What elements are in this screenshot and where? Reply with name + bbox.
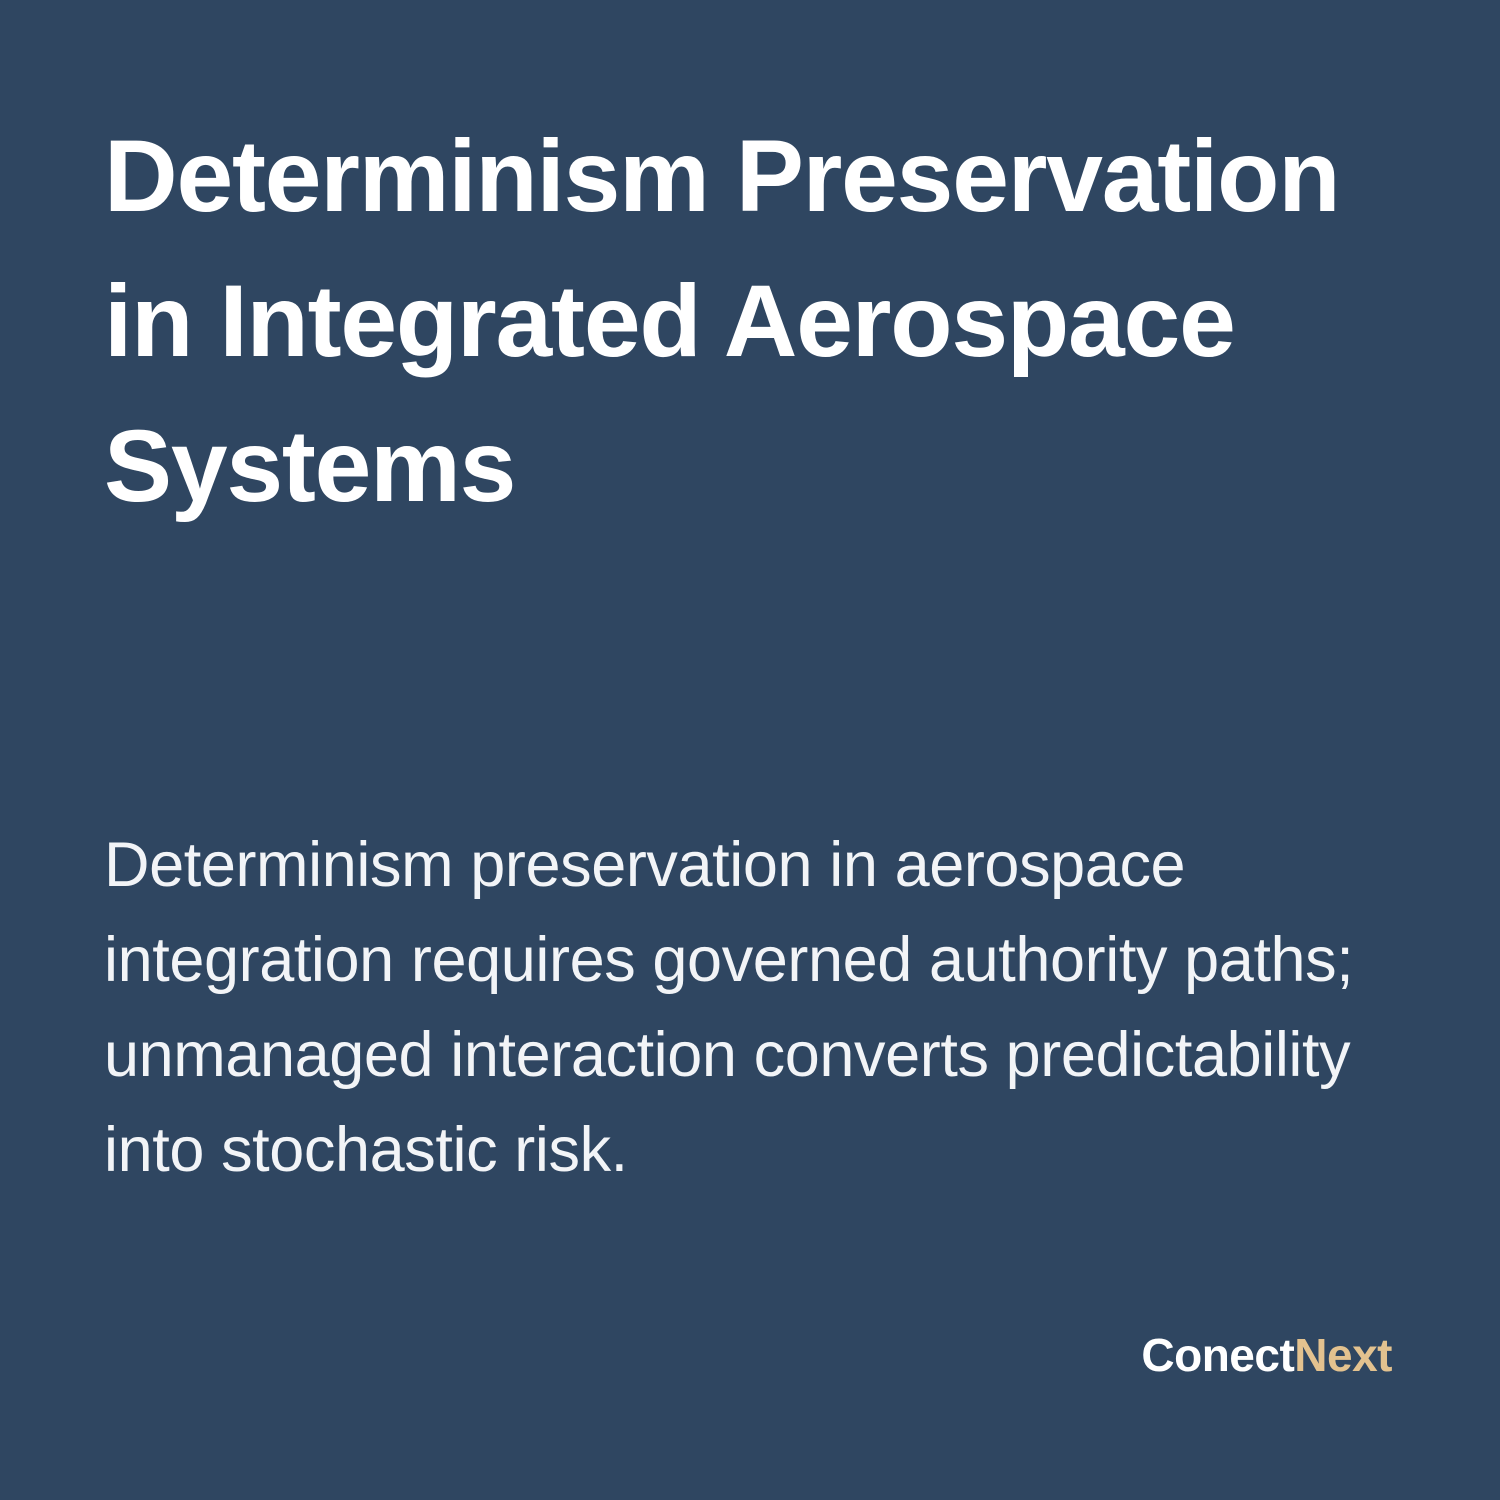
brand-logo: ConectNext (1141, 1332, 1392, 1378)
social-card: Determinism Preservation in Integrated A… (0, 0, 1500, 1500)
brand-logo-primary: Conect (1141, 1329, 1294, 1381)
body-block: Determinism preservation in aerospace in… (104, 818, 1414, 1198)
body-paragraph: Determinism preservation in aerospace in… (104, 818, 1414, 1198)
page-title: Determinism Preservation in Integrated A… (104, 104, 1424, 539)
brand-logo-accent: Next (1294, 1329, 1392, 1381)
title-block: Determinism Preservation in Integrated A… (104, 104, 1424, 539)
